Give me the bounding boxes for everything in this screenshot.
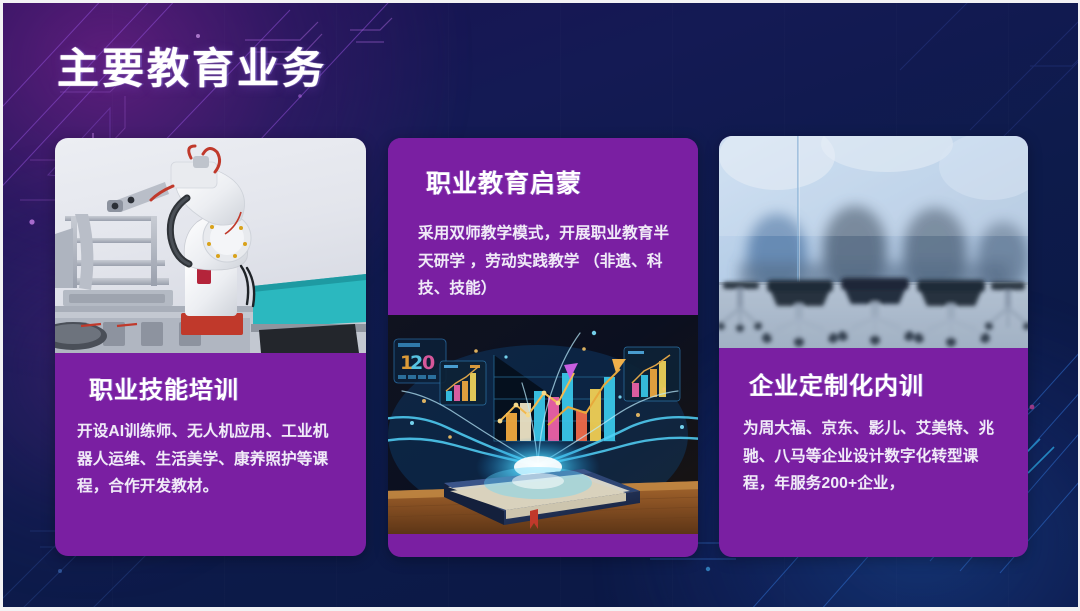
glowing-book-data-charts-photo: 1 2 0: [388, 315, 698, 534]
svg-text:0: 0: [422, 352, 435, 374]
slide-root: 主要教育业务: [0, 0, 1080, 611]
card-enterprise-customized-training[interactable]: 企业定制化内训 为周大福、京东、影儿、艾美特、兆驰、八马等企业设计数字化转型课程…: [719, 136, 1028, 557]
office-chairs-meeting-room-photo: [719, 136, 1028, 348]
card-2-title: 职业教育启蒙: [426, 164, 676, 200]
card-2-body: 职业教育启蒙 采用双师教学模式，开展职业教育半天研学 ，劳动实践教学 （非遗、科…: [388, 138, 698, 315]
card-3-body: 企业定制化内训 为周大福、京东、影儿、艾美特、兆驰、八马等企业设计数字化转型课程…: [719, 348, 1028, 498]
card-3-title: 企业定制化内训: [749, 366, 1006, 401]
card-1-title: 职业技能培训: [89, 370, 344, 405]
card-1-text: 开设AI训练师、无人机应用、工业机器人运维、生活美学、康养照护等课程，合作开发教…: [77, 418, 344, 501]
card-vocational-education-enlightenment[interactable]: 职业教育启蒙 采用双师教学模式，开展职业教育半天研学 ，劳动实践教学 （非遗、科…: [388, 138, 698, 557]
card-3-text: 为周大福、京东、影儿、艾美特、兆驰、八马等企业设计数字化转型课程，年服务200+…: [743, 415, 1006, 498]
card-2-text: 采用双师教学模式，开展职业教育半天研学 ，劳动实践教学 （非遗、科技、技能）: [418, 220, 676, 303]
card-vocational-skills-training[interactable]: 职业技能培训 开设AI训练师、无人机应用、工业机器人运维、生活美学、康养照护等课…: [55, 138, 366, 556]
page-title: 主要教育业务: [57, 44, 327, 94]
card-1-body: 职业技能培训 开设AI训练师、无人机应用、工业机器人运维、生活美学、康养照护等课…: [55, 353, 366, 501]
industrial-robot-arm-photo: [55, 138, 366, 353]
